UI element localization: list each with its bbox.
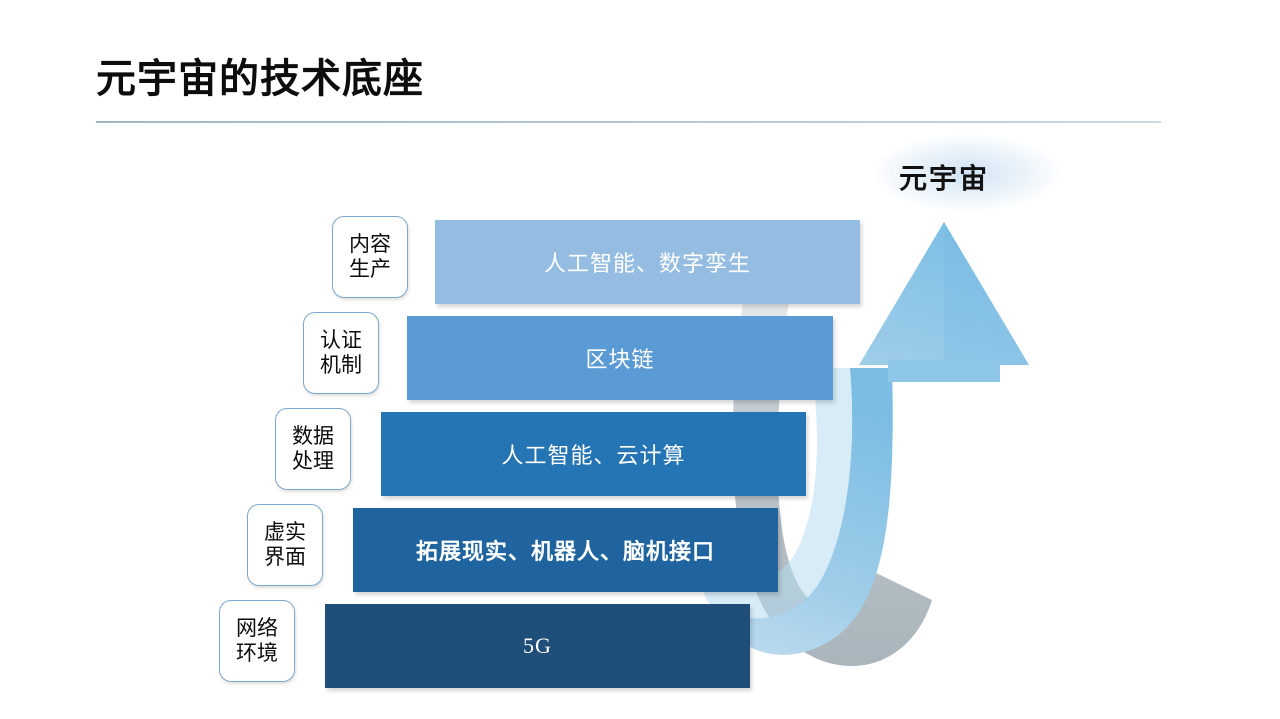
layer-tag-virtual-real-interface[interactable]: 虚实 界面: [247, 504, 323, 586]
layer-tag-authentication[interactable]: 认证 机制: [303, 312, 379, 394]
layer-bar-virtual-real-interface[interactable]: 拓展现实、机器人、脑机接口: [353, 508, 778, 592]
layer-tag-line-2: 机制: [320, 353, 362, 378]
layer-tag-data-processing[interactable]: 数据 处理: [275, 408, 351, 490]
layer-tag-line-1: 内容: [349, 232, 391, 257]
layer-tag-line-1: 数据: [292, 424, 334, 449]
technology-stack: 内容 生产 人工智能、数字孪生 认证 机制 区块链 数据 处理 人工智能、云计算…: [0, 0, 1280, 719]
layer-tag-line-1: 认证: [320, 328, 362, 353]
layer-tag-line-2: 处理: [292, 449, 334, 474]
layer-tag-line-2: 界面: [264, 545, 306, 570]
layer-tag-line-2: 生产: [349, 257, 391, 282]
layer-tag-network-environment[interactable]: 网络 环境: [219, 600, 295, 682]
layer-bar-data-processing[interactable]: 人工智能、云计算: [381, 412, 806, 496]
layer-bar-network-environment[interactable]: 5G: [325, 604, 750, 688]
layer-tag-content-production[interactable]: 内容 生产: [332, 216, 408, 298]
layer-bar-authentication[interactable]: 区块链: [407, 316, 833, 400]
slide-canvas: 元宇宙的技术底座 元宇宙: [0, 0, 1280, 719]
layer-tag-line-1: 网络: [236, 616, 278, 641]
layer-tag-line-1: 虚实: [264, 520, 306, 545]
layer-tag-line-2: 环境: [236, 641, 278, 666]
layer-bar-content-production[interactable]: 人工智能、数字孪生: [435, 220, 860, 304]
